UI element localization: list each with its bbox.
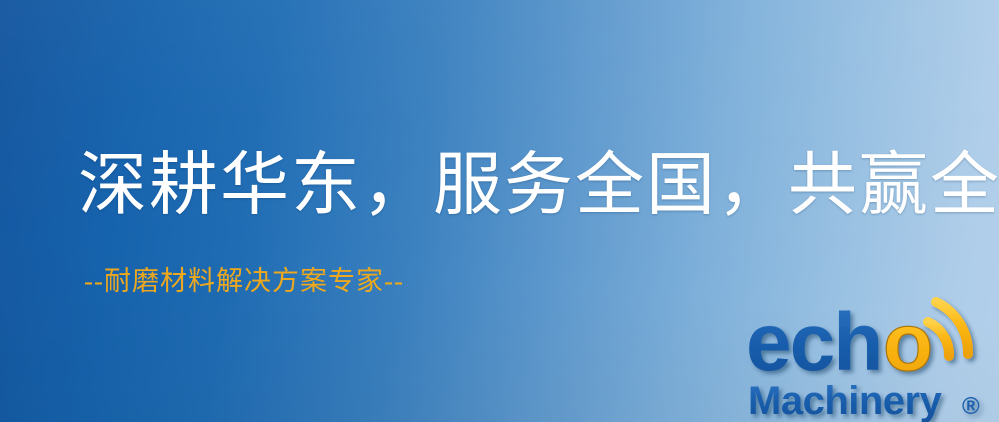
echo-signal-waves-icon [928, 302, 968, 356]
banner-headline: 深耕华东，服务全国，共赢全球 [78, 148, 999, 223]
hero-banner: 深耕华东，服务全国，共赢全球 --耐磨材料解决方案专家-- [0, 0, 999, 422]
echo-machinery-logo[interactable]: ech o Machinery ® [746, 294, 999, 422]
banner-subtitle: --耐磨材料解决方案专家-- [84, 265, 404, 297]
logo-brand-accent-letter: o [883, 297, 933, 388]
logo-registered-mark: ® [962, 393, 980, 420]
logo-brand-secondary: Machinery [748, 379, 943, 422]
logo-brand-primary: ech [746, 297, 881, 388]
